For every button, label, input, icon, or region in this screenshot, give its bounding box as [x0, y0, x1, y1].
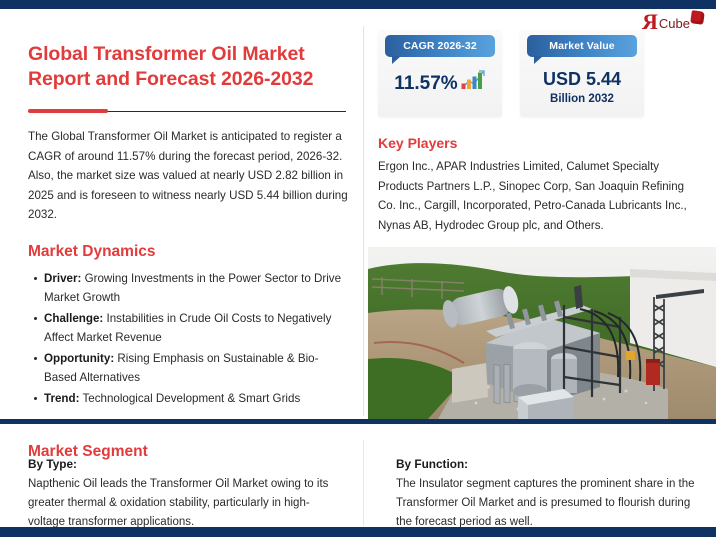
dynamics-label: Opportunity: [44, 352, 114, 365]
by-function-text: The Insulator segment captures the promi… [396, 475, 706, 532]
cagr-badge-label: CAGR 2026-32 [385, 35, 495, 57]
mid-divider-bar [0, 419, 716, 424]
dynamics-label: Driver: [44, 272, 81, 285]
cube-icon [690, 10, 705, 25]
market-value-unit: Billion 2032 [520, 91, 644, 108]
segment-by-function: By Function: The Insulator segment captu… [396, 457, 706, 532]
top-accent-bar [0, 0, 716, 9]
market-value-badge-label: Market Value [527, 35, 637, 57]
dynamics-text: Technological Development & Smart Grids [79, 392, 300, 405]
by-type-text: Napthenic Oil leads the Transformer Oil … [28, 475, 346, 532]
by-function-label: By Function: [396, 457, 706, 471]
list-item: Driver: Growing Investments in the Power… [44, 269, 348, 308]
list-item: Challenge: Instabilities in Crude Oil Co… [44, 309, 348, 348]
right-column: CAGR 2026-32 11.57% [378, 30, 708, 236]
substation-photo [368, 247, 716, 419]
market-value-amount: USD 5.44 [520, 68, 644, 91]
list-item: Opportunity: Rising Emphasis on Sustaina… [44, 349, 348, 388]
market-value-badge-body: USD 5.44 Billion 2032 [520, 57, 644, 108]
dynamics-text: Growing Investments in the Power Sector … [44, 272, 341, 305]
cagr-value: 11.57% [394, 73, 457, 95]
key-players-text: Ergon Inc., APAR Industries Limited, Cal… [378, 158, 698, 236]
market-dynamics-list: Driver: Growing Investments in the Power… [28, 269, 348, 409]
rule-red-segment [28, 109, 108, 113]
bar-chart-growth-icon [460, 68, 486, 95]
segment-by-type: By Type: Napthenic Oil leads the Transfo… [28, 457, 346, 532]
by-type-label: By Type: [28, 457, 346, 471]
left-column: Global Transformer Oil Market Report and… [28, 42, 348, 409]
stat-badges: CAGR 2026-32 11.57% [378, 30, 708, 117]
bottom-column-divider [363, 440, 364, 526]
cagr-value-row: 11.57% [378, 68, 502, 101]
dynamics-label: Challenge: [44, 312, 103, 325]
infographic-page: R Cube Global Transformer Oil Market Rep… [0, 0, 716, 537]
dynamics-label: Trend: [44, 392, 79, 405]
cagr-badge: CAGR 2026-32 11.57% [378, 30, 502, 117]
key-players-heading: Key Players [378, 135, 708, 151]
page-title: Global Transformer Oil Market Report and… [28, 42, 348, 92]
list-item: Trend: Technological Development & Smart… [44, 389, 348, 409]
column-divider [363, 26, 364, 416]
intro-paragraph: The Global Transformer Oil Market is ant… [28, 127, 348, 225]
title-rule [28, 109, 346, 113]
market-dynamics-heading: Market Dynamics [28, 243, 348, 261]
logo-r-icon: R [642, 12, 658, 32]
market-value-badge: Market Value USD 5.44 Billion 2032 [520, 30, 644, 117]
